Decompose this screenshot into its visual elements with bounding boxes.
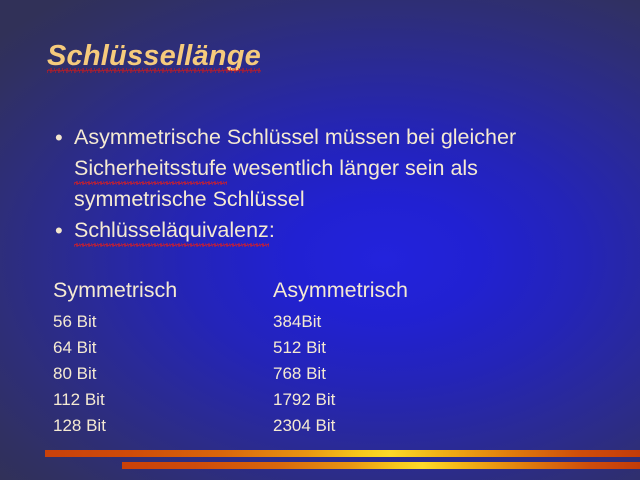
bullet-list: • Asymmetrische Schlüssel müssen bei gle… (48, 122, 608, 246)
key-equivalence-table: Symmetrisch Asymmetrisch 56 Bit 384Bit 6… (53, 276, 473, 439)
presentation-slide: Schlüssellänge • Asymmetrische Schlüssel… (0, 0, 640, 480)
bullet-1-text-before: Asymmetrische Schlüssel müssen bei gleic… (74, 125, 516, 149)
table-cell-symmetric: 112 Bit (53, 387, 273, 413)
gradient-bar-lower (122, 462, 640, 469)
table-cell-symmetric: 56 Bit (53, 309, 273, 335)
bullet-1-misspelled-word: Sicherheitsstufe (74, 153, 227, 184)
bullet-text-2: Schlüsseläquivalenz: (74, 215, 275, 246)
table-cell-asymmetric: 1792 Bit (273, 387, 473, 413)
table-row: 64 Bit 512 Bit (53, 335, 473, 361)
table-cell-symmetric: 64 Bit (53, 335, 273, 361)
table-cell-asymmetric: 2304 Bit (273, 413, 473, 439)
bullet-2-text-after: : (269, 218, 275, 242)
list-item: • Asymmetrische Schlüssel müssen bei gle… (48, 122, 608, 215)
table-cell-symmetric: 80 Bit (53, 361, 273, 387)
table-header-row: Symmetrisch Asymmetrisch (53, 276, 473, 309)
table-cell-asymmetric: 384Bit (273, 309, 473, 335)
slide-title: Schlüssellänge (47, 40, 261, 73)
bullet-dot-icon: • (48, 215, 74, 246)
table-header-asymmetric: Asymmetrisch (273, 276, 473, 309)
slide-title-text: Schlüssellänge (47, 40, 261, 73)
table-header-symmetric: Symmetrisch (53, 276, 273, 309)
gradient-bar-upper (45, 450, 640, 457)
table-cell-symmetric: 128 Bit (53, 413, 273, 439)
bullet-dot-icon: • (48, 122, 74, 153)
table-row: 128 Bit 2304 Bit (53, 413, 473, 439)
bullet-2-misspelled-word: Schlüsseläquivalenz (74, 215, 269, 246)
list-item: • Schlüsseläquivalenz: (48, 215, 608, 246)
table-body: 56 Bit 384Bit 64 Bit 512 Bit 80 Bit 768 … (53, 309, 473, 439)
bullet-text-1: Asymmetrische Schlüssel müssen bei gleic… (74, 122, 579, 215)
table-cell-asymmetric: 768 Bit (273, 361, 473, 387)
table-row: 80 Bit 768 Bit (53, 361, 473, 387)
table-row: 112 Bit 1792 Bit (53, 387, 473, 413)
table-row: 56 Bit 384Bit (53, 309, 473, 335)
table-cell-asymmetric: 512 Bit (273, 335, 473, 361)
